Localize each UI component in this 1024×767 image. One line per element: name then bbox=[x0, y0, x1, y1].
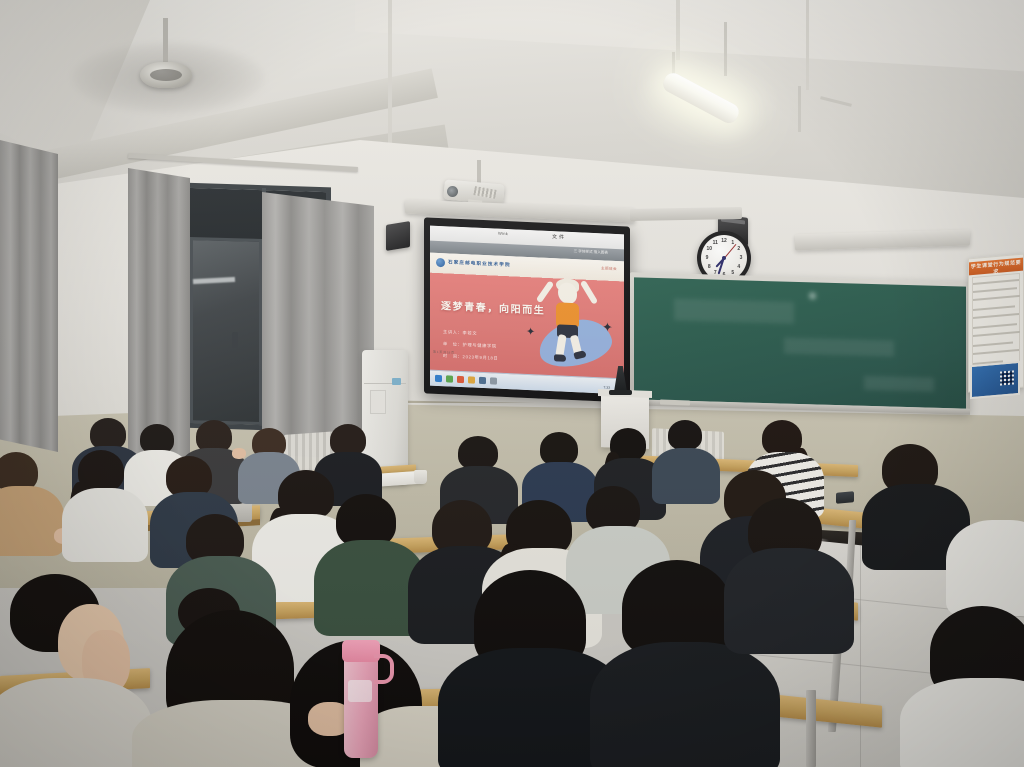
os-topbar-menu[interactable]: 文 件 bbox=[552, 233, 564, 241]
slide-title: 逐梦青春，向阳而生 bbox=[441, 297, 545, 317]
paper-cup[interactable] bbox=[414, 470, 427, 484]
pink-water-bottle[interactable] bbox=[344, 650, 378, 758]
smartphone[interactable] bbox=[836, 491, 854, 504]
projector-lens bbox=[447, 186, 458, 197]
curtain-right[interactable] bbox=[262, 192, 374, 460]
taskbar-start-icon[interactable] bbox=[435, 375, 442, 382]
chalk-smudge-3 bbox=[864, 376, 934, 392]
ac-display-icon bbox=[392, 378, 401, 385]
clock-numeral: 10 bbox=[706, 246, 712, 252]
taskbar-app-icon-2[interactable] bbox=[457, 376, 464, 383]
chalk-dot bbox=[809, 292, 816, 299]
light-rod-c bbox=[798, 86, 801, 132]
os-topbar-tab[interactable]: Wink bbox=[498, 231, 508, 236]
ceiling-fan-rod bbox=[163, 18, 168, 68]
clock-numeral: 11 bbox=[713, 240, 718, 246]
eraser-on-ledge[interactable] bbox=[660, 399, 690, 405]
clock-numeral: 2 bbox=[737, 246, 740, 252]
microphone-base bbox=[609, 390, 632, 395]
wall-speaker-left bbox=[386, 221, 410, 251]
taskbar-app-icon-5[interactable] bbox=[490, 377, 497, 384]
clock-numeral: 3 bbox=[740, 255, 743, 261]
window-glass bbox=[190, 237, 262, 425]
slide-badge: 主题班会 bbox=[601, 266, 617, 272]
clock-center-pin bbox=[722, 256, 726, 260]
clock-numeral: 9 bbox=[706, 255, 709, 261]
window-handle[interactable] bbox=[232, 332, 238, 348]
taskbar-app-icon-1[interactable] bbox=[446, 375, 453, 382]
taskbar-app-icon-4[interactable] bbox=[479, 377, 486, 384]
slide-kid-head bbox=[558, 282, 577, 304]
slide-meta-unit: 单 位：护理与健康学院 bbox=[443, 341, 497, 349]
clock-numeral: 8 bbox=[708, 264, 711, 270]
slide-kid-shoe-left bbox=[554, 354, 566, 362]
clock-numeral: 12 bbox=[721, 238, 727, 244]
institution-logo-icon bbox=[436, 258, 445, 267]
bottle-handle[interactable] bbox=[374, 654, 394, 684]
light-rod-b bbox=[724, 22, 727, 76]
curtain-middle[interactable] bbox=[128, 168, 190, 468]
classroom-photo: Wink 文 件 三 字体样式 插入图表 石家庄邮电职业技术学院 主题班会 ✦ … bbox=[0, 0, 1024, 767]
ceiling-fan-icon bbox=[140, 62, 192, 88]
chalk-smudge-2 bbox=[784, 338, 894, 357]
projector-vent bbox=[473, 186, 496, 199]
slide-sparkle-left: ✦ bbox=[526, 327, 535, 338]
ac-vent-panel bbox=[370, 390, 386, 414]
blackboard bbox=[634, 277, 966, 408]
floor-seam-3 bbox=[860, 545, 861, 767]
qr-code-icon bbox=[1000, 370, 1014, 385]
curtain-left[interactable] bbox=[0, 140, 58, 452]
taskbar-app-icon-3[interactable] bbox=[468, 376, 475, 383]
bottle-label bbox=[348, 680, 372, 702]
ceiling-conduit-far bbox=[806, 0, 809, 90]
slide-kid-arm-right bbox=[580, 280, 598, 305]
presentation-slide: 石家庄邮电职业技术学院 主题班会 ✦ ✦ 逐梦青春，向阳而生 主讲人：李若文 单… bbox=[430, 253, 624, 380]
slide-page-indicator: 第 1 页 共 18 页 bbox=[433, 350, 454, 355]
qr-code-poster bbox=[970, 361, 1020, 399]
ceiling-conduit-right bbox=[676, 0, 680, 60]
smart-display-screen[interactable]: Wink 文 件 三 字体样式 插入图表 石家庄邮电职业技术学院 主题班会 ✦ … bbox=[430, 226, 624, 395]
slide-sparkle-right: ✦ bbox=[602, 320, 613, 333]
projection-screen-housing-right bbox=[630, 207, 742, 221]
chalk-smudge-1 bbox=[674, 298, 794, 323]
slide-meta-speaker: 主讲人：李若文 bbox=[443, 329, 477, 337]
slide-kid-arm-left bbox=[536, 280, 554, 303]
desk-leg-front bbox=[806, 690, 816, 767]
clock-numeral: 4 bbox=[737, 264, 740, 270]
